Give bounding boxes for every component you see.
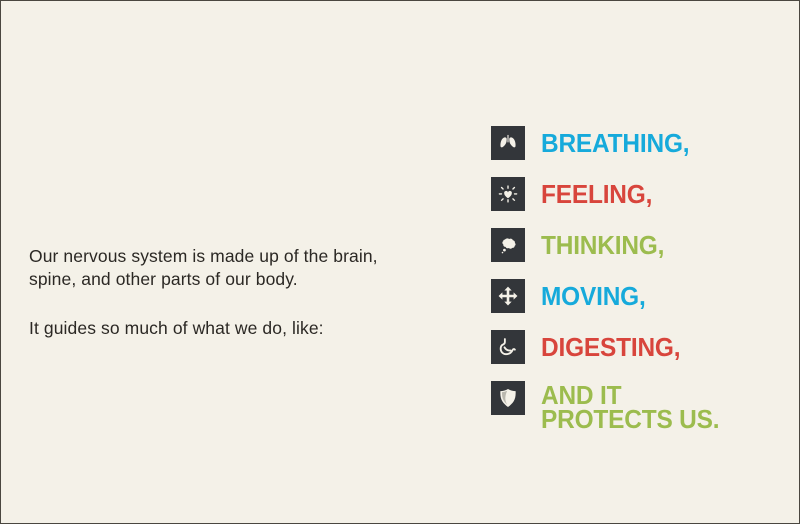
list-item-label: BREATHING, — [541, 126, 689, 156]
slide-page: Our nervous system is made up of the bra… — [0, 0, 800, 524]
list-item: MOVING, — [491, 279, 731, 330]
lungs-icon — [491, 126, 525, 160]
list-item: BREATHING, — [491, 126, 731, 177]
paragraph-intro: Our nervous system is made up of the bra… — [29, 245, 399, 291]
thought-bubble-icon — [491, 228, 525, 262]
heart-rays-icon — [491, 177, 525, 211]
list-item-label: AND IT PROTECTS US. — [541, 381, 719, 431]
body-copy: Our nervous system is made up of the bra… — [29, 245, 399, 340]
list-item-label: DIGESTING, — [541, 330, 680, 360]
list-item-label: MOVING, — [541, 279, 646, 309]
stomach-icon — [491, 330, 525, 364]
paragraph-lead-in: It guides so much of what we do, like: — [29, 317, 399, 340]
list-item: AND IT PROTECTS US. — [491, 381, 731, 437]
list-item-label: THINKING, — [541, 228, 664, 258]
function-list: BREATHING, FEELING, THINKING, — [491, 126, 731, 437]
list-item: THINKING, — [491, 228, 731, 279]
list-item: FEELING, — [491, 177, 731, 228]
four-way-arrows-icon — [491, 279, 525, 313]
shield-icon — [491, 381, 525, 415]
list-item-label: FEELING, — [541, 177, 652, 207]
list-item: DIGESTING, — [491, 330, 731, 381]
